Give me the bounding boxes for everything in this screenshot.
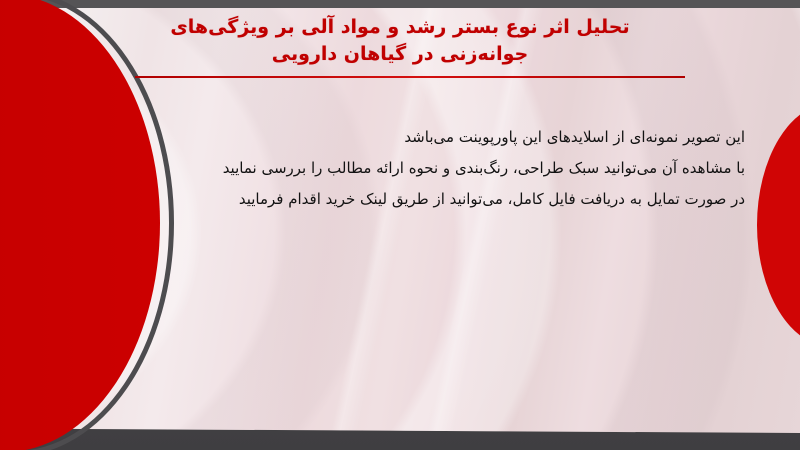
body-line-2: با مشاهده آن می‌توانید سبک طراحی، رنگ‌بن…: [55, 153, 745, 184]
body-line-3: در صورت تمایل به دریافت فایل کامل، می‌تو…: [55, 184, 745, 215]
body-line-1: این تصویر نمونه‌ای از اسلایدهای این پاور…: [55, 122, 745, 153]
slide-title-line-1: تحلیل اثر نوع بستر رشد و مواد آلی بر ویژ…: [0, 14, 800, 41]
slide-body-text: این تصویر نمونه‌ای از اسلایدهای این پاور…: [55, 122, 745, 215]
slide-title: تحلیل اثر نوع بستر رشد و مواد آلی بر ویژ…: [0, 14, 800, 68]
title-divider-rule: [135, 76, 685, 78]
presentation-slide: تحلیل اثر نوع بستر رشد و مواد آلی بر ویژ…: [0, 0, 800, 450]
slide-title-line-2: جوانه‌زنی در گیاهان دارویی: [0, 41, 800, 68]
